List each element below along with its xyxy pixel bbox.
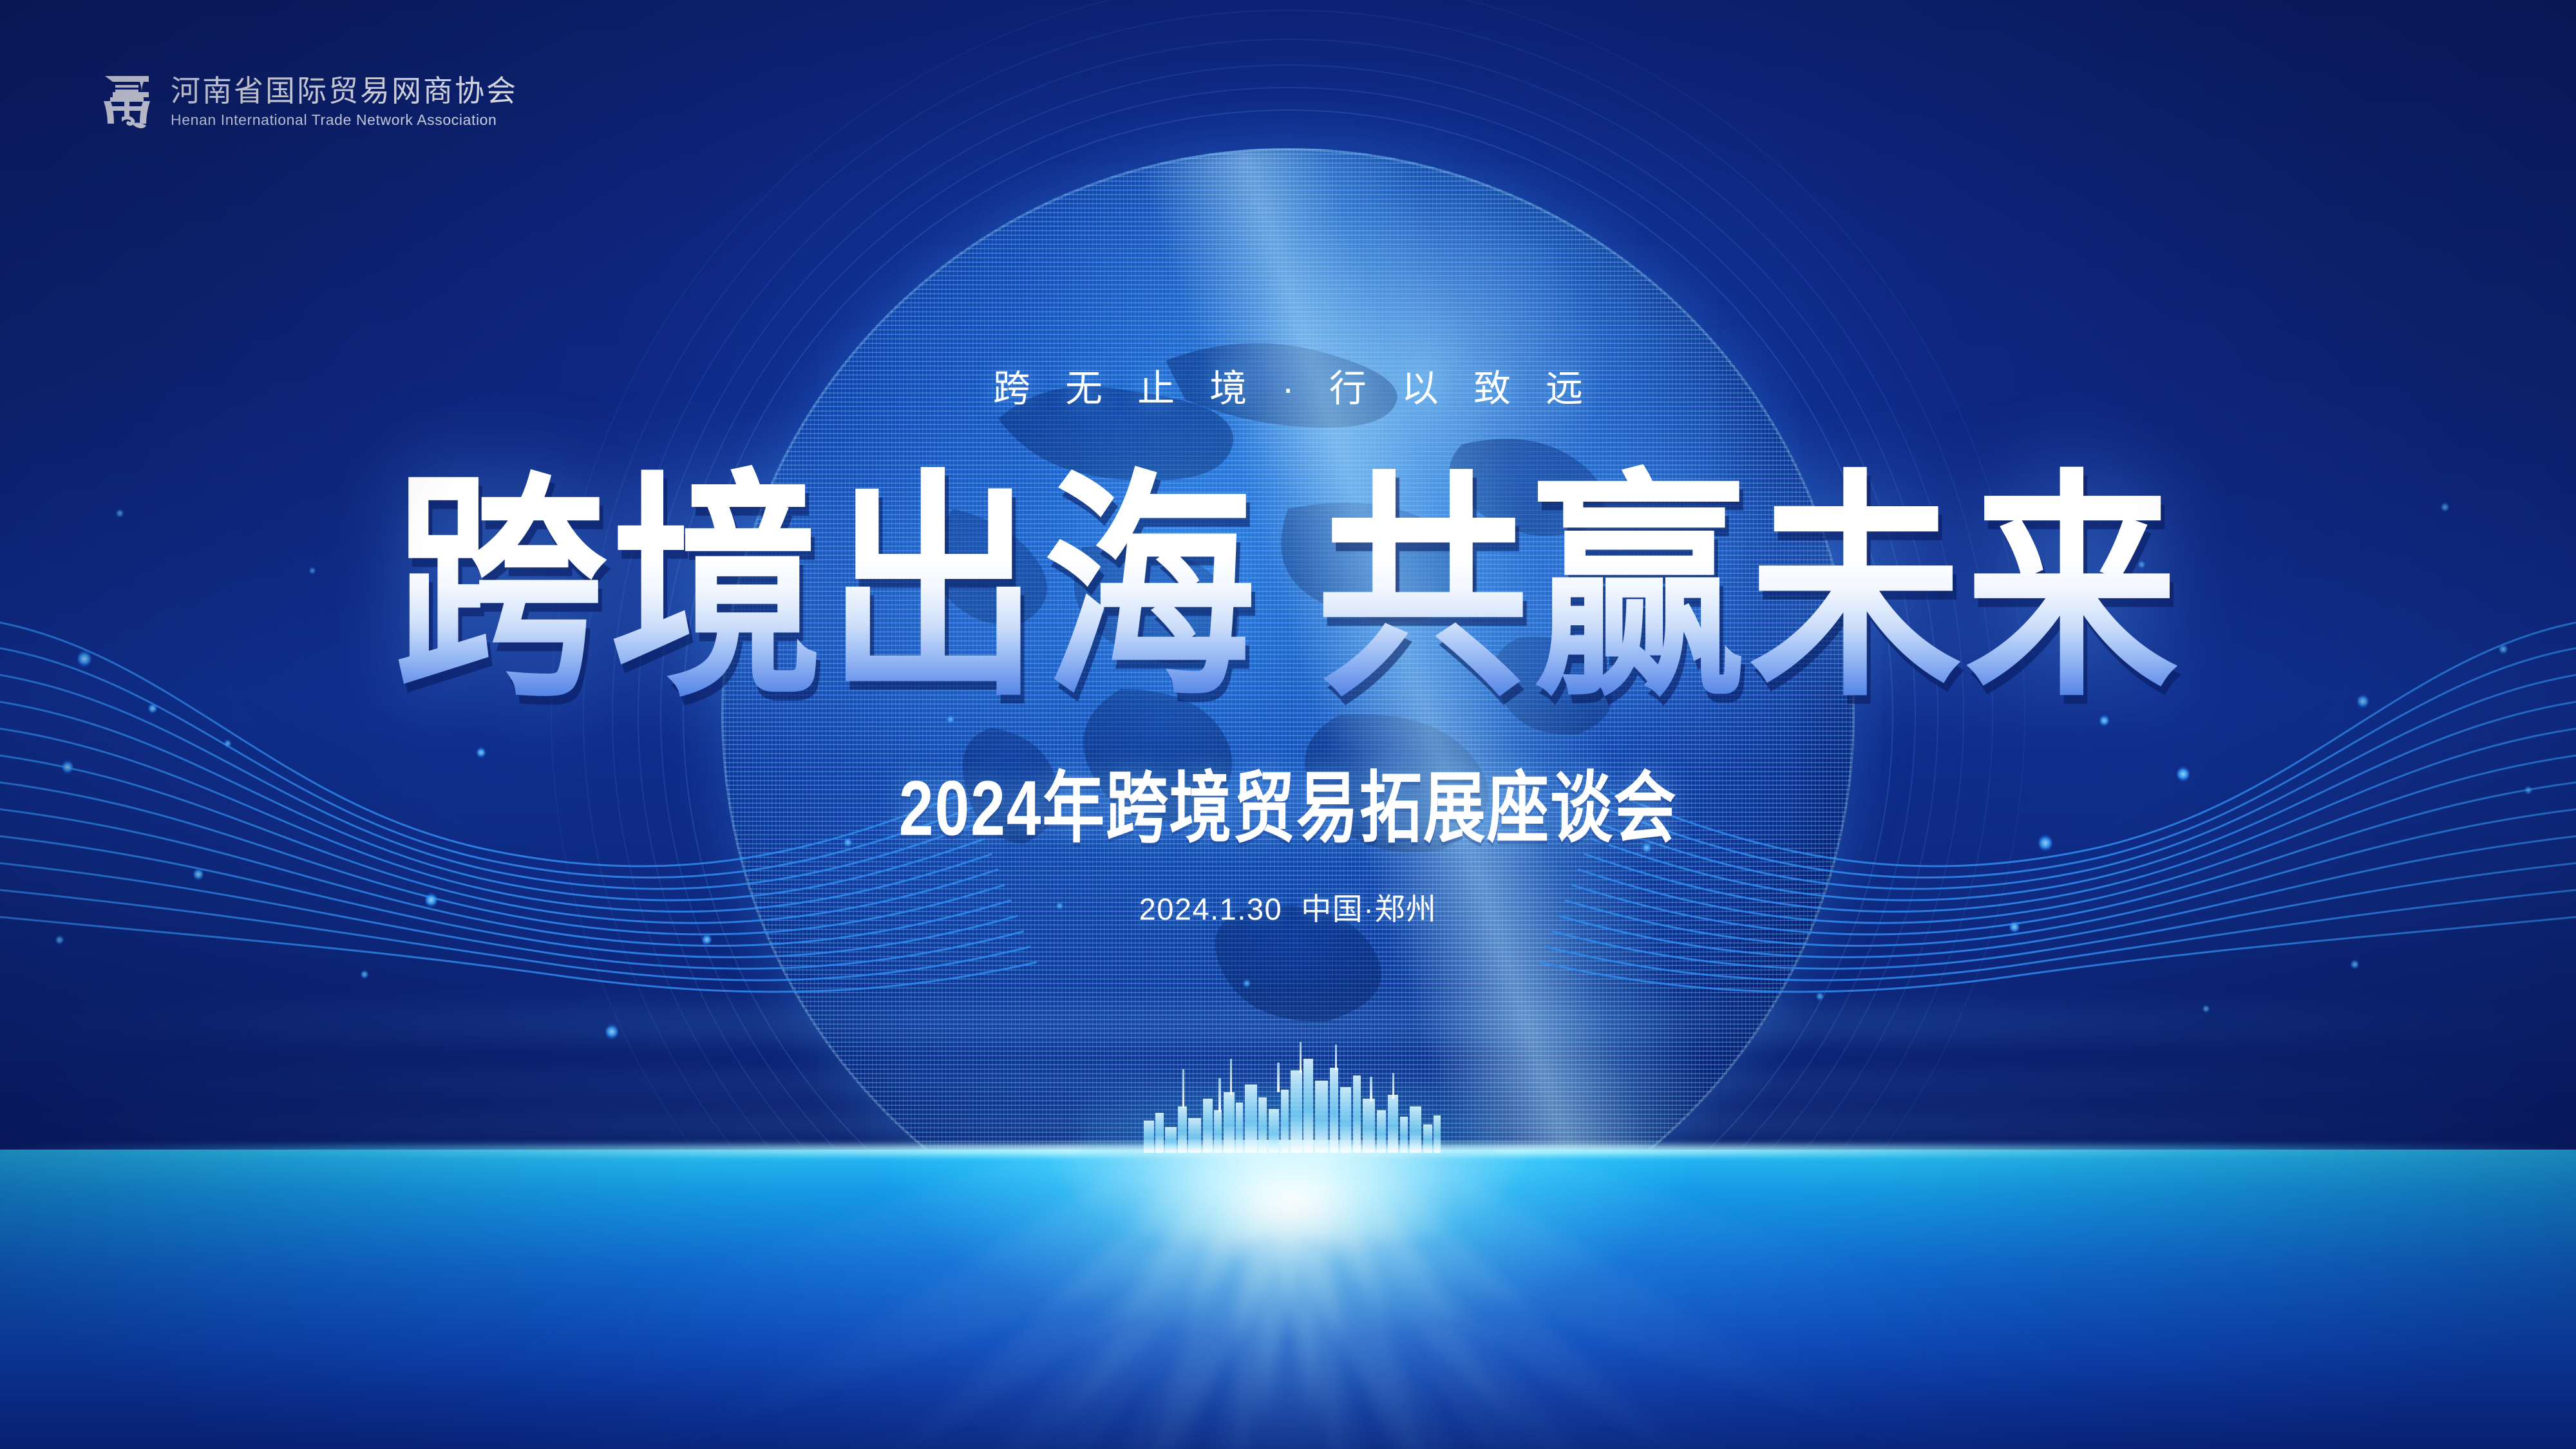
particle bbox=[361, 970, 368, 979]
particle bbox=[2351, 960, 2359, 969]
hero-title-part1: 跨境出海 bbox=[394, 455, 1260, 724]
particle bbox=[62, 760, 73, 774]
particle bbox=[2357, 694, 2369, 708]
hero-title-part2: 共赢未来 bbox=[1316, 455, 2182, 724]
event-datebar: 2024.1.30 中国·郑州 bbox=[0, 884, 2576, 929]
particle bbox=[2202, 1005, 2210, 1013]
particle bbox=[1816, 992, 1824, 1001]
brand-name-cn: 河南省国际贸易网商协会 bbox=[171, 73, 518, 108]
hero-tagline: 跨 无 止 境 · 行 以 致 远 bbox=[0, 358, 2576, 412]
brand-name-en: Henan International Trade Network Associ… bbox=[171, 111, 518, 130]
particle bbox=[193, 868, 204, 880]
particle bbox=[2524, 786, 2532, 795]
city-skyline-icon bbox=[1140, 1030, 1443, 1153]
hero-subtitle: 2024年跨境贸易拓展座谈会 bbox=[90, 744, 2486, 857]
henan-seal-logo-icon bbox=[100, 72, 154, 131]
event-date: 2024.1.30 bbox=[1139, 892, 1283, 926]
poster-canvas: 河南省国际贸易网商协会 Henan International Trade Ne… bbox=[0, 0, 2576, 1449]
event-location: 中国·郑州 bbox=[1301, 892, 1437, 926]
particle bbox=[702, 934, 712, 945]
particle bbox=[1243, 979, 1251, 988]
hero-title: 跨境出海 共赢未来 bbox=[0, 455, 2576, 693]
particle bbox=[148, 703, 157, 714]
particle bbox=[55, 935, 64, 945]
particle bbox=[605, 1024, 618, 1039]
brand-logo[interactable]: 河南省国际贸易网商协会 Henan International Trade Ne… bbox=[100, 72, 518, 131]
